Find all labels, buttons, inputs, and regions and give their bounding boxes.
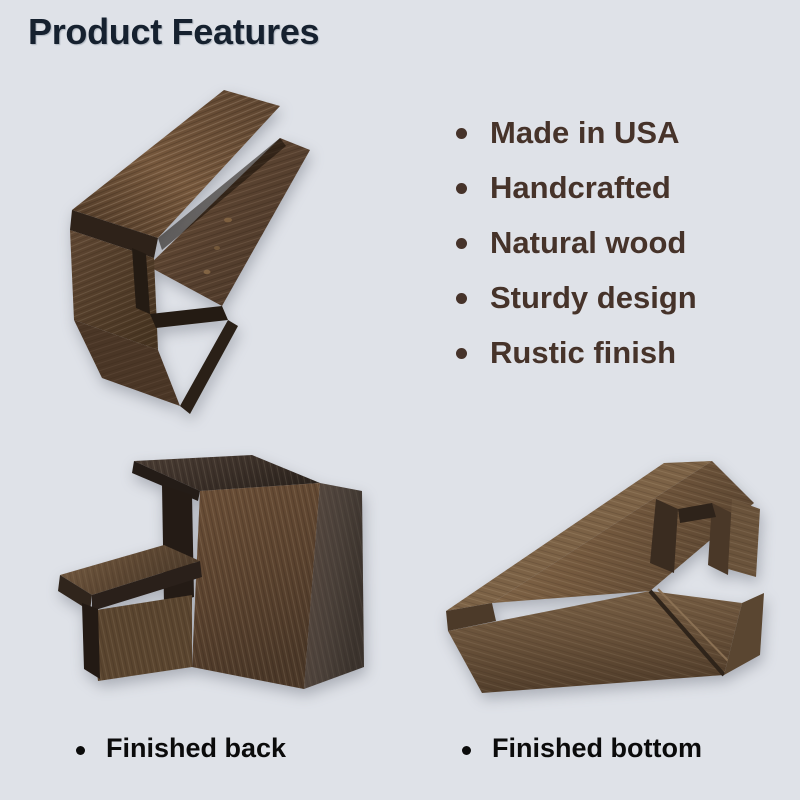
- caption-finished-back: Finished back: [76, 733, 286, 764]
- shelf-bottom-view-illustration: [412, 443, 784, 713]
- feature-label: Sturdy design: [490, 280, 697, 315]
- feature-label: Natural wood: [490, 225, 686, 260]
- shelf-bracket-left: [82, 603, 100, 679]
- feature-list: Made in USA Handcrafted Natural wood Stu…: [452, 110, 782, 385]
- shelf-bottom-edge: [150, 306, 228, 328]
- caption-finished-bottom: Finished bottom: [462, 733, 702, 764]
- wood-knot-mark: [204, 270, 211, 274]
- feature-item: Handcrafted: [452, 165, 782, 220]
- caption-label: Finished back: [106, 733, 286, 763]
- shelf-top-view-illustration: [62, 88, 374, 426]
- feature-item: Natural wood: [452, 220, 782, 275]
- bullet-icon: [456, 183, 467, 194]
- shelf-foot-edge: [180, 320, 238, 414]
- wood-knot-mark: [224, 218, 232, 223]
- bullet-icon: [456, 238, 467, 249]
- feature-label: Made in USA: [490, 115, 679, 150]
- page-title: Product Features: [28, 11, 319, 53]
- shelf-back-view-illustration: [52, 445, 382, 713]
- feature-item: Made in USA: [452, 110, 782, 165]
- feature-label: Rustic finish: [490, 335, 676, 370]
- product-photo-top-angle-view: [62, 88, 374, 426]
- bullet-icon: [456, 293, 467, 304]
- caption-label: Finished bottom: [492, 733, 702, 763]
- feature-item: Sturdy design: [452, 275, 782, 330]
- product-features-infographic: Product Features: [0, 0, 800, 800]
- bullet-icon: [462, 746, 471, 755]
- product-photo-bottom-view: [412, 443, 784, 713]
- bullet-icon: [456, 348, 467, 359]
- feature-item: Rustic finish: [452, 330, 782, 385]
- bullet-icon: [76, 746, 85, 755]
- feature-label: Handcrafted: [490, 170, 671, 205]
- bullet-icon: [456, 128, 467, 139]
- wood-knot-mark: [214, 246, 220, 250]
- product-photo-back-view: [52, 445, 382, 713]
